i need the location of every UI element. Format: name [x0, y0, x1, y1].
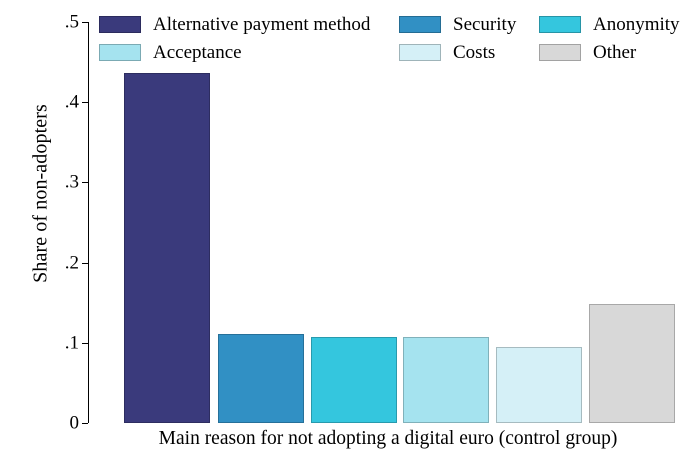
bar-costs [496, 347, 582, 423]
y-axis-tick-mark [82, 343, 88, 344]
y-axis-tick-mark [82, 423, 88, 424]
legend-swatch [539, 44, 581, 61]
legend-item-acceptance: Acceptance [99, 41, 242, 63]
bar-chart-figure: Share of non-adopters 0.1.2.3.4.5 Main r… [0, 0, 696, 456]
legend-label: Other [593, 43, 636, 62]
legend-item-other: Other [539, 41, 636, 63]
y-axis-tick-label: .1 [65, 333, 79, 352]
bar-alternative-payment-method [124, 73, 210, 423]
legend-item-alternative-payment-method: Alternative payment method [99, 13, 370, 35]
bar-acceptance [403, 337, 489, 423]
legend-label: Acceptance [153, 43, 242, 62]
bar-other [589, 304, 675, 423]
y-axis-tick-label: .4 [65, 93, 79, 112]
plot-area: 0.1.2.3.4.5 [88, 22, 688, 423]
legend-swatch [99, 44, 141, 61]
legend-item-anonymity: Anonymity [539, 13, 680, 35]
y-axis-tick-label: 0 [70, 414, 80, 433]
y-axis-tick-label: .2 [65, 253, 79, 272]
y-axis-tick-label: .5 [65, 13, 79, 32]
y-axis-tick-mark [82, 182, 88, 183]
legend-item-security: Security [399, 13, 516, 35]
y-axis-title: Share of non-adopters [30, 14, 53, 374]
legend-swatch [399, 44, 441, 61]
legend-swatch [399, 16, 441, 33]
legend-label: Costs [453, 43, 495, 62]
x-axis-title: Main reason for not adopting a digital e… [88, 428, 688, 450]
legend-label: Alternative payment method [153, 15, 370, 34]
legend-swatch [539, 16, 581, 33]
y-axis-tick-mark [82, 22, 88, 23]
y-axis-tick-mark [82, 263, 88, 264]
y-axis-line [88, 22, 89, 423]
legend-label: Anonymity [593, 15, 680, 34]
bar-security [218, 334, 304, 423]
chart-legend: Alternative payment methodSecurityAnonym… [99, 13, 689, 65]
legend-label: Security [453, 15, 516, 34]
legend-item-costs: Costs [399, 41, 495, 63]
legend-swatch [99, 16, 141, 33]
y-axis-tick-mark [82, 102, 88, 103]
y-axis-tick-label: .3 [65, 173, 79, 192]
bar-anonymity [311, 337, 397, 423]
